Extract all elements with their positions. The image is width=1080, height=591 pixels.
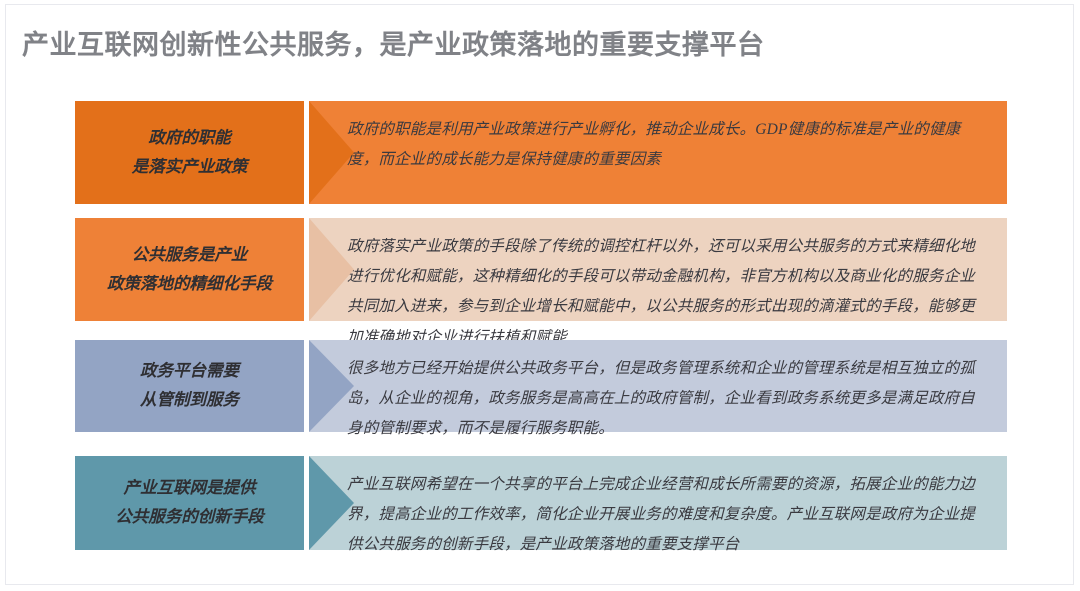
row-body-block[interactable]: 很多地方已经开始提供公共政务平台，但是政务管理系统和企业的管理系统是相互独立的孤… bbox=[309, 340, 1007, 432]
row-label-text: 政务平台需要 从管制到服务 bbox=[140, 357, 239, 415]
chevron-right-icon bbox=[309, 340, 354, 432]
chevron-right-icon bbox=[309, 101, 354, 204]
process-row: 政府的职能 是落实产业政策 政府的职能是利用产业政策进行产业孵化，推动企业成长。… bbox=[75, 101, 1007, 204]
chevron-right-glyph bbox=[309, 456, 354, 550]
chevron-right-glyph bbox=[309, 340, 354, 432]
row-label-block[interactable]: 政府的职能 是落实产业政策 bbox=[75, 101, 304, 204]
chevron-right-icon bbox=[309, 456, 354, 550]
row-label-block[interactable]: 产业互联网是提供 公共服务的创新手段 bbox=[75, 456, 304, 550]
chevron-right-icon bbox=[309, 218, 354, 321]
row-body-text: 政府落实产业政策的手段除了传统的调控杠杆以外，还可以采用公共服务的方式来精细化地… bbox=[347, 232, 989, 353]
row-body-text: 产业互联网希望在一个共享的平台上完成企业经营和成长所需要的资源，拓展企业的能力边… bbox=[347, 470, 989, 561]
row-label-block[interactable]: 公共服务是产业 政策落地的精细化手段 bbox=[75, 218, 304, 321]
process-row: 公共服务是产业 政策落地的精细化手段 政府落实产业政策的手段除了传统的调控杠杆以… bbox=[75, 218, 1007, 321]
row-body-block[interactable]: 产业互联网希望在一个共享的平台上完成企业经营和成长所需要的资源，拓展企业的能力边… bbox=[309, 456, 1007, 550]
row-label-text: 公共服务是产业 政策落地的精细化手段 bbox=[107, 241, 272, 299]
chevron-right-glyph bbox=[309, 218, 354, 321]
row-label-block[interactable]: 政务平台需要 从管制到服务 bbox=[75, 340, 304, 432]
slide-canvas: 产业互联网创新性公共服务，是产业政策落地的重要支撑平台 政府的职能 是落实产业政… bbox=[5, 4, 1074, 585]
row-body-text: 政府的职能是利用产业政策进行产业孵化，推动企业成长。GDP健康的标准是产业的健康… bbox=[347, 115, 989, 175]
chevron-right-glyph bbox=[309, 101, 354, 204]
row-label-text: 政府的职能 是落实产业政策 bbox=[132, 124, 248, 182]
page-title: 产业互联网创新性公共服务，是产业政策落地的重要支撑平台 bbox=[22, 23, 765, 62]
row-body-block[interactable]: 政府落实产业政策的手段除了传统的调控杠杆以外，还可以采用公共服务的方式来精细化地… bbox=[309, 218, 1007, 321]
row-body-text: 很多地方已经开始提供公共政务平台，但是政务管理系统和企业的管理系统是相互独立的孤… bbox=[347, 354, 989, 445]
process-rows-container: 政府的职能 是落实产业政策 政府的职能是利用产业政策进行产业孵化，推动企业成长。… bbox=[75, 101, 1007, 565]
process-row: 政务平台需要 从管制到服务 很多地方已经开始提供公共政务平台，但是政务管理系统和… bbox=[75, 340, 1007, 432]
process-row: 产业互联网是提供 公共服务的创新手段 产业互联网希望在一个共享的平台上完成企业经… bbox=[75, 456, 1007, 550]
row-body-block[interactable]: 政府的职能是利用产业政策进行产业孵化，推动企业成长。GDP健康的标准是产业的健康… bbox=[309, 101, 1007, 204]
row-label-text: 产业互联网是提供 公共服务的创新手段 bbox=[115, 474, 264, 532]
